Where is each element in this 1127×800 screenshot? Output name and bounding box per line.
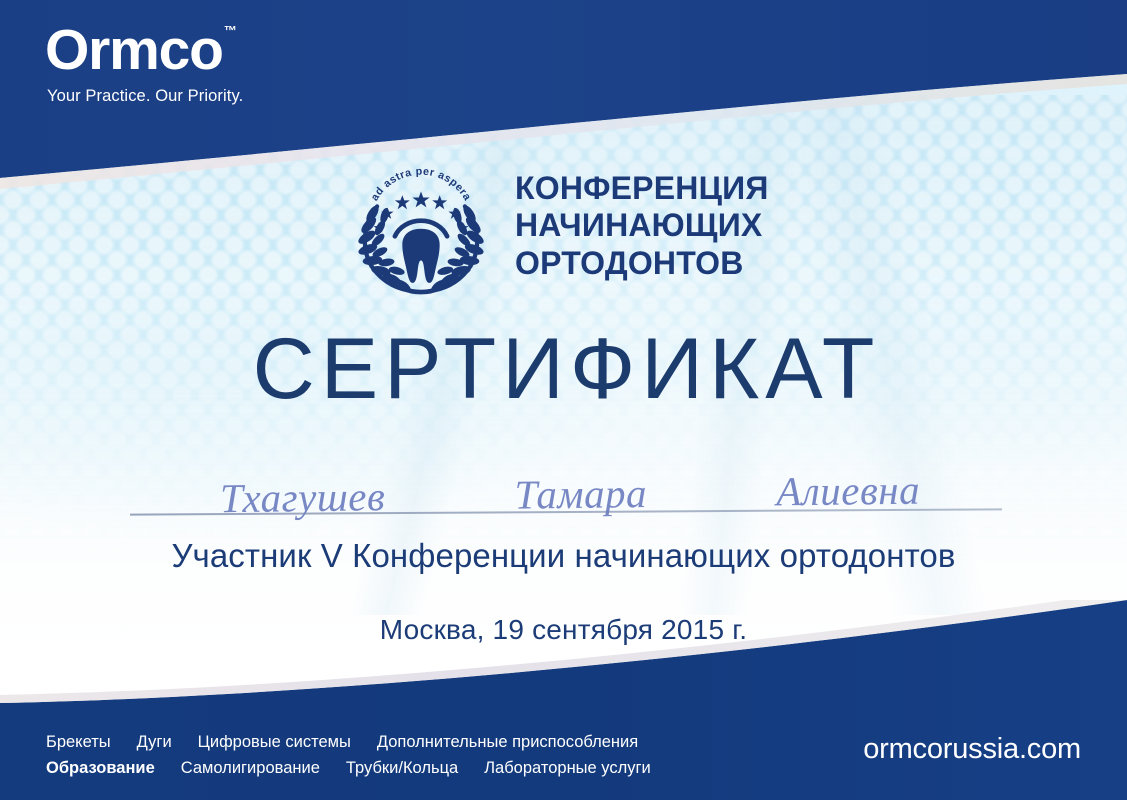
page-title: СЕРТИФИКАТ	[0, 326, 1127, 412]
conference-title-line-3: ОРТОДОНТОВ	[515, 245, 769, 282]
recipient-first-name: Тамара	[514, 469, 647, 519]
participant-statement: Участник V Конференции начинающих ортодо…	[0, 537, 1127, 575]
recipient-surname: Тхагушев	[220, 472, 386, 522]
tooth-laurel-wreath-icon: ad astra per aspera	[345, 156, 497, 296]
nav-link-selfligation[interactable]: Самолигирование	[181, 755, 320, 782]
footer-row-1: Брекеты Дуги Цифровые системы Дополнител…	[46, 729, 651, 756]
footer-row-2: Образование Самолигирование Трубки/Кольц…	[46, 755, 651, 782]
footer-navigation: Брекеты Дуги Цифровые системы Дополнител…	[46, 729, 651, 782]
conference-logo-lockup: ad astra per aspera	[345, 156, 769, 296]
nav-link-tubes-bands[interactable]: Трубки/Кольца	[346, 755, 458, 782]
brand-tagline: Your Practice. Our Priority.	[47, 87, 243, 106]
nav-link-lab-services[interactable]: Лабораторные услуги	[484, 755, 651, 782]
brand-wordmark: Ormco ™	[45, 22, 223, 79]
website-url[interactable]: ormcorussia.com	[863, 733, 1081, 766]
nav-link-archwires[interactable]: Дуги	[137, 729, 172, 756]
tooth-icon	[402, 229, 439, 283]
recipient-name-handwritten: Тхагушев Тамара Алиевна	[150, 447, 981, 523]
conference-title-line-1: КОНФЕРЕНЦИЯ	[515, 170, 769, 207]
place-and-date: Москва, 19 сентября 2015 г.	[0, 614, 1127, 646]
nav-link-brackets[interactable]: Брекеты	[46, 729, 111, 756]
ormco-logo: Ormco ™ Your Practice. Our Priority.	[45, 22, 243, 106]
trademark-icon: ™	[224, 24, 237, 37]
brand-name: Ormco	[45, 18, 223, 82]
nav-link-digital-systems[interactable]: Цифровые системы	[198, 729, 351, 756]
nav-link-accessories[interactable]: Дополнительные приспособления	[377, 729, 638, 756]
conference-title-line-2: НАЧИНАЮЩИХ	[515, 207, 769, 244]
nav-link-education[interactable]: Образование	[46, 755, 155, 782]
conference-title: КОНФЕРЕНЦИЯ НАЧИНАЮЩИХ ОРТОДОНТОВ	[515, 170, 769, 281]
certificate-page: Ormco ™ Your Practice. Our Priority. ad …	[0, 0, 1127, 800]
recipient-patronymic: Алиевна	[776, 466, 920, 516]
